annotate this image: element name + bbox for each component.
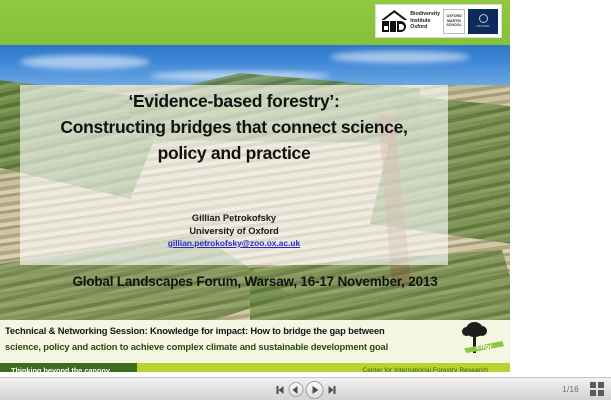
cloud-shape bbox=[20, 55, 150, 69]
oxford-crest-icon bbox=[479, 14, 488, 23]
author-name: Gillian Petrokofsky bbox=[20, 212, 448, 225]
slide-title: ‘Evidence-based forestry’: Constructing … bbox=[20, 88, 448, 166]
slide-title-line-2: Constructing bridges that connect scienc… bbox=[20, 114, 448, 140]
triangle-right-icon bbox=[312, 386, 318, 394]
oxford-logo-label: OXFORD bbox=[476, 24, 490, 28]
logo-line-1: Biodiversity bbox=[410, 11, 440, 17]
slide-title-line-3: policy and practice bbox=[20, 140, 448, 166]
cifor-logo: cifor bbox=[458, 322, 504, 362]
biodiversity-institute-wordmark: Biodiversity Institute Oxford bbox=[410, 11, 440, 30]
forum-venue-line: Global Landscapes Forum, Warsaw, 16-17 N… bbox=[10, 274, 500, 289]
play-button[interactable] bbox=[305, 381, 323, 399]
transport-controls bbox=[273, 378, 338, 400]
oms-line-3: SCHOOL bbox=[446, 23, 461, 27]
tagline-bar: Thinking beyond the canopy Center for In… bbox=[0, 363, 510, 372]
skip-to-end-icon[interactable] bbox=[325, 382, 338, 398]
skip-to-start-icon[interactable] bbox=[273, 382, 286, 398]
cifor-wordmark: cifor bbox=[476, 344, 493, 351]
author-block: Gillian Petrokofsky University of Oxford… bbox=[20, 212, 448, 249]
tagline-left-text: Thinking beyond the canopy bbox=[0, 363, 137, 372]
session-text-line-2: science, policy and action to achieve co… bbox=[5, 339, 475, 355]
slide-canvas[interactable]: Long-term Ecology & Resource Stewardship… bbox=[0, 0, 510, 372]
author-email-link[interactable]: gillian.petrokofsky@zoo.ox.ac.uk bbox=[20, 237, 448, 249]
triangle-left-icon bbox=[292, 386, 297, 394]
logo-line-3: Oxford bbox=[410, 24, 440, 30]
session-info-text: Technical & Networking Session: Knowledg… bbox=[5, 323, 475, 355]
oxford-martin-school-logo: OXFORD MARTIN SCHOOL bbox=[443, 9, 465, 34]
slide-viewer: Long-term Ecology & Resource Stewardship… bbox=[0, 0, 611, 400]
cloud-shape bbox=[330, 51, 470, 63]
biodiversity-institute-logo: Biodiversity Institute Oxford bbox=[379, 9, 440, 33]
tagline-right-text: Center for International Forestry Resear… bbox=[137, 363, 510, 372]
session-text-line-1: Technical & Networking Session: Knowledg… bbox=[5, 323, 475, 339]
grid-view-icon[interactable] bbox=[590, 382, 605, 397]
university-of-oxford-logo: OXFORD bbox=[468, 9, 498, 34]
slide-title-line-1: ‘Evidence-based forestry’: bbox=[20, 88, 448, 114]
previous-slide-button[interactable] bbox=[288, 382, 303, 397]
biodiversity-institute-icon bbox=[381, 9, 407, 33]
player-control-bar: 1/16 bbox=[0, 377, 611, 400]
page-counter: 1/16 bbox=[562, 378, 579, 400]
logo-strip: Biodiversity Institute Oxford OXFORD MAR… bbox=[375, 4, 502, 38]
author-affiliation: University of Oxford bbox=[20, 225, 448, 238]
